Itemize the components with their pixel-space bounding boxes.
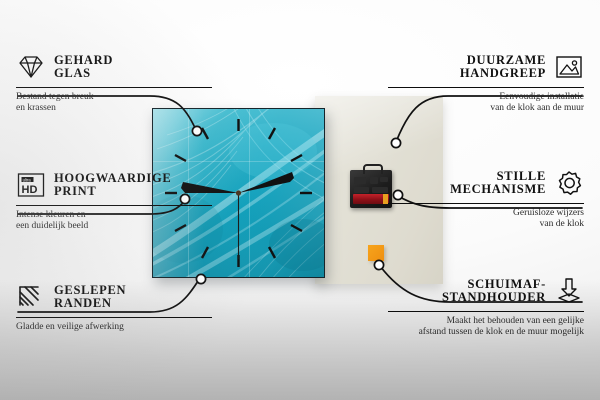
glass-clock-panel [152, 108, 325, 278]
movement-slot [380, 177, 388, 182]
callout-subtitle-line: Maakt het behouden van een gelijke [388, 316, 584, 328]
connector-dot-gehard-glas [192, 126, 201, 135]
movement-slot [370, 177, 378, 184]
callout-title: GEHARD GLAS [54, 54, 113, 81]
callout-subtitle-line: en krassen [16, 103, 212, 115]
down-arrow-plate-icon [554, 277, 584, 305]
callout-hoogwaardige-print: ultra HD HOOGWAARDIGE PRINT Intense kleu… [16, 168, 212, 233]
movement-slot [372, 187, 388, 193]
movement-hanger [363, 164, 383, 174]
callout-subtitle-line: Eenvoudige installatie [388, 92, 584, 104]
print-grid-line [153, 161, 324, 162]
clock-face [153, 109, 324, 277]
callout-subtitle-line: Geruisloze wijzers [388, 208, 584, 220]
callout-rule [388, 311, 584, 312]
callout-subtitle: Bestand tegen breuk en krassen [16, 92, 212, 115]
callout-gehard-glas: GEHARD GLAS Bestand tegen breuk en krass… [16, 50, 212, 115]
callout-subtitle-line: van de klok [388, 219, 584, 231]
callout-rule [16, 87, 212, 88]
callout-subtitle-line: van de klok aan de muur [388, 103, 584, 115]
connector-dot-randen [196, 274, 205, 283]
callout-subtitle: Maakt het behouden van een gelijke afsta… [388, 316, 584, 339]
foam-spacer [368, 245, 384, 261]
callout-title: HOOGWAARDIGE PRINT [54, 172, 171, 199]
print-grid-line [249, 109, 250, 277]
callout-title: STILLE MECHANISME [450, 170, 546, 197]
callout-subtitle: Eenvoudige installatie van de klok aan d… [388, 92, 584, 115]
callout-header: GESLEPEN RANDEN [16, 280, 212, 314]
callout-title: DUURZAME HANDGREEP [460, 54, 546, 81]
callout-subtitle-line: afstand tussen de klok en de muur mogeli… [388, 327, 584, 339]
ultra-hd-icon-top-text: ultra [23, 177, 32, 182]
callout-stille-mechanisme: STILLE MECHANISME Geruisloze wijzers van… [388, 166, 584, 231]
battery [353, 194, 389, 204]
callout-rule [388, 203, 584, 204]
callout-header: SCHUIMAF- STANDHOUDER [388, 274, 584, 308]
gear-icon [554, 169, 584, 197]
connector-dot-print [180, 194, 189, 203]
movement-slot [354, 177, 366, 184]
callout-subtitle-line: Gladde en veilige afwerking [16, 322, 212, 334]
diamond-icon [16, 53, 46, 81]
clock-movement [350, 170, 392, 208]
callout-subtitle-line: Bestand tegen breuk [16, 92, 212, 104]
picture-frame-icon [554, 53, 584, 81]
callout-subtitle: Intense kleuren en een duidelijk beeld [16, 210, 212, 233]
callout-rule [16, 317, 212, 318]
glass-reflection [153, 109, 324, 277]
callout-title: GESLEPEN RANDEN [54, 284, 126, 311]
callout-geslepen-randen: GESLEPEN RANDEN Gladde en veilige afwerk… [16, 280, 212, 333]
feather-artwork [153, 109, 324, 277]
movement-slot [354, 187, 369, 193]
connector-line-randen [18, 278, 200, 312]
callout-rule [16, 205, 212, 206]
callout-subtitle: Gladde en veilige afwerking [16, 322, 212, 334]
callout-header: GEHARD GLAS [16, 50, 212, 84]
callout-header: STILLE MECHANISME [388, 166, 584, 200]
product-infographic: GEHARD GLAS Bestand tegen breuk en krass… [0, 0, 600, 400]
callout-header: ultra HD HOOGWAARDIGE PRINT [16, 168, 212, 202]
ultra-hd-icon: ultra HD [16, 171, 46, 199]
ultra-hd-icon-main-text: HD [22, 184, 38, 196]
callout-rule [388, 87, 584, 88]
callout-subtitle-line: een duidelijk beeld [16, 221, 212, 233]
connector-line-gehard-glas [18, 96, 196, 130]
connector-line-print [18, 200, 186, 214]
callout-subtitle-line: Intense kleuren en [16, 210, 212, 222]
callout-subtitle: Geruisloze wijzers van de klok [388, 208, 584, 231]
callout-header: DUURZAME HANDGREEP [388, 50, 584, 84]
callout-title: SCHUIMAF- STANDHOUDER [442, 278, 546, 305]
callout-schuimafstandhouder: SCHUIMAF- STANDHOUDER Maakt het behouden… [388, 274, 584, 339]
callout-duurzame-handgreep: DUURZAME HANDGREEP Eenvoudige installati… [388, 50, 584, 115]
bevelled-edges-icon [16, 283, 46, 311]
print-grid-line [188, 109, 189, 277]
